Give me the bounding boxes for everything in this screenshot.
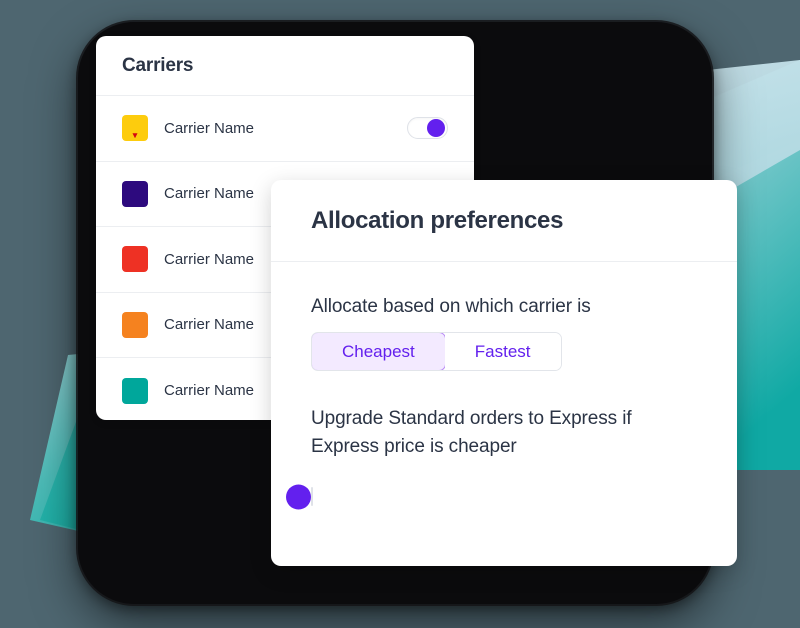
allocation-card-header: Allocation preferences: [271, 180, 737, 262]
carrier-name-label: Carrier Name: [164, 316, 254, 333]
toggle-knob: [286, 484, 311, 509]
carrier-color-swatch-icon: [122, 115, 148, 141]
toggle-knob: [427, 119, 445, 137]
allocation-card-body: Allocate based on which carrier is Cheap…: [271, 262, 737, 506]
allocation-question-label: Allocate based on which carrier is: [311, 296, 697, 318]
carrier-name-label: Carrier Name: [164, 251, 254, 268]
allocation-preferences-card: Allocation preferences Allocate based on…: [271, 180, 737, 566]
carriers-card-header: Carriers: [96, 36, 474, 96]
upgrade-express-toggle[interactable]: [311, 487, 313, 506]
carrier-name-label: Carrier Name: [164, 382, 254, 399]
allocation-mode-segmented-control[interactable]: Cheapest Fastest: [311, 332, 562, 371]
upgrade-toggle-wrapper: [311, 488, 697, 506]
page-title: Allocation preferences: [311, 207, 563, 235]
carriers-title: Carriers: [122, 55, 193, 77]
carrier-color-swatch-icon: [122, 378, 148, 404]
carrier-color-swatch-icon: [122, 312, 148, 338]
carrier-color-swatch-icon: [122, 181, 148, 207]
carrier-name-label: Carrier Name: [164, 120, 254, 137]
carrier-color-swatch-icon: [122, 246, 148, 272]
upgrade-statement-label: Upgrade Standard orders to Express if Ex…: [311, 405, 697, 460]
tab-cheapest[interactable]: Cheapest: [311, 332, 446, 371]
carrier-name-label: Carrier Name: [164, 185, 254, 202]
tab-fastest[interactable]: Fastest: [445, 333, 561, 370]
carrier-enabled-toggle[interactable]: [407, 117, 448, 139]
screenshot-stage: Carriers Carrier Name Carrier Name Carri…: [0, 0, 800, 628]
carrier-row[interactable]: Carrier Name: [96, 96, 474, 162]
